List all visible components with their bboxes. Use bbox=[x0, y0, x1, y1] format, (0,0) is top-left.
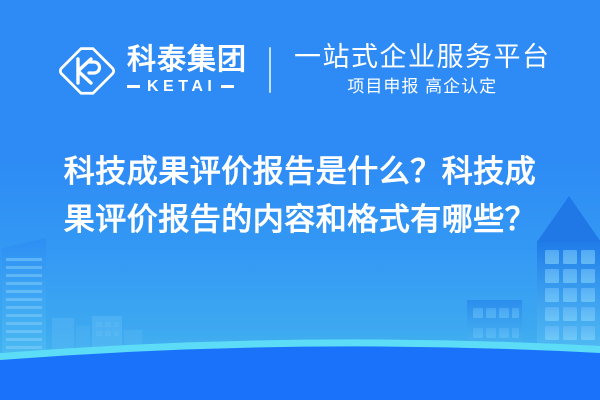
banner-header: 科泰集团 KETAI 一站式企业服务平台 项目申报 高企认定 bbox=[0, 0, 600, 135]
logo-dash-right bbox=[221, 85, 234, 88]
brand-name-cn: 科泰集团 bbox=[127, 46, 247, 76]
page-title-line-1: 科技成果评价报告是什么？科技成 bbox=[0, 148, 600, 196]
slogan-block: 一站式企业服务平台 项目申报 高企认定 bbox=[294, 42, 551, 98]
ketai-diamond-kp-logo-icon bbox=[58, 42, 116, 100]
slogan-sub: 项目申报 高企认定 bbox=[294, 77, 551, 97]
left-skyscraper bbox=[2, 238, 46, 352]
page-title: 科技成果评价报告是什么？科技成 果评价报告的内容和格式有哪些？ bbox=[0, 148, 600, 244]
page-title-line-2: 果评价报告的内容和格式有哪些？ bbox=[0, 196, 600, 244]
brand-wordmark: 科泰集团 KETAI bbox=[127, 46, 247, 95]
bottom-arc bbox=[0, 339, 600, 400]
brand-name-en: KETAI bbox=[147, 79, 216, 95]
slogan-main: 一站式企业服务平台 bbox=[294, 42, 551, 72]
brand-logo[interactable]: 科泰集团 KETAI bbox=[58, 42, 247, 100]
logo-dash-left bbox=[127, 85, 140, 88]
brand-name-en-row: KETAI bbox=[127, 79, 247, 95]
header-divider bbox=[269, 47, 271, 93]
promo-banner: 科泰集团 KETAI 一站式企业服务平台 项目申报 高企认定 科技成果评价报告是… bbox=[0, 0, 600, 400]
